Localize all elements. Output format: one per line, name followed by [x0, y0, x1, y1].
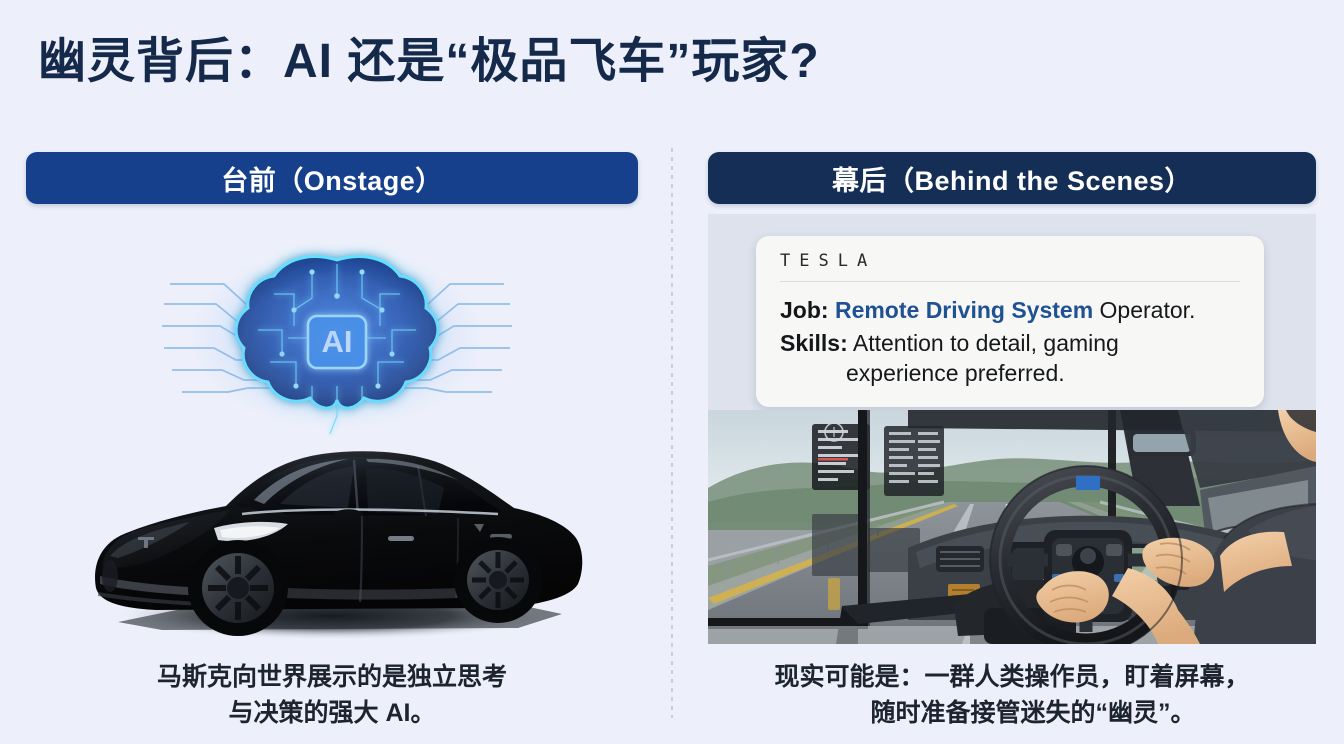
caption-behind-line-1: 现实可能是：一群人类操作员，盯着屏幕，: [700, 660, 1324, 696]
job-suffix-text: Operator.: [1093, 297, 1195, 323]
front-wheel: [188, 540, 288, 636]
behind-body-panel: TESLA Job: Remote Driving System Operato…: [708, 214, 1316, 644]
skills-text-continued: experience preferred.: [780, 358, 1240, 389]
job-label: Job:: [780, 297, 829, 323]
caption-onstage-line-2: 与决策的强大 AI。: [26, 696, 638, 732]
driving-simulator-rig-photo: [708, 410, 1316, 644]
job-card-divider: [780, 281, 1240, 282]
panel-header-behind-label: 幕后（Behind the Scenes）: [832, 159, 1192, 198]
job-accent-text: Remote Driving System: [835, 297, 1093, 323]
page-title: 幽灵背后：AI 还是“极品飞车”玩家?: [38, 34, 820, 89]
ai-brain-icon: AI: [162, 238, 512, 438]
column-behind: 幕后（Behind the Scenes） TESLA Job: Remote …: [708, 152, 1316, 644]
tesla-car-svg: [66, 416, 606, 651]
caption-onstage: 马斯克向世界展示的是独立思考 与决策的强大 AI。: [26, 660, 638, 731]
panel-header-behind: 幕后（Behind the Scenes）: [708, 152, 1316, 204]
caption-behind: 现实可能是：一群人类操作员，盯着屏幕， 随时准备接管迷失的“幽灵”。: [700, 660, 1324, 731]
rear-wheel: [454, 537, 542, 623]
tesla-wordmark: TESLA: [780, 251, 1240, 281]
column-onstage: 台前（Onstage）: [26, 152, 638, 666]
caption-onstage-line-1: 马斯克向世界展示的是独立思考: [26, 660, 638, 696]
caption-behind-line-2: 随时准备接管迷失的“幽灵”。: [700, 696, 1324, 732]
panel-header-onstage-label: 台前（Onstage）: [221, 159, 443, 198]
driving-simulator-svg: [708, 410, 1316, 644]
onstage-body: AI: [26, 204, 638, 666]
skills-text: Attention to detail, gaming: [848, 330, 1119, 356]
tesla-model-3-car: [66, 416, 606, 651]
job-title-line: Job: Remote Driving System Operator.: [780, 295, 1240, 326]
skills-label: Skills:: [780, 330, 848, 356]
job-skills-line: Skills: Attention to detail, gaming expe…: [780, 328, 1240, 389]
panel-header-onstage: 台前（Onstage）: [26, 152, 638, 204]
tesla-job-posting-card: TESLA Job: Remote Driving System Operato…: [756, 236, 1264, 407]
ai-brain-glow: [192, 248, 482, 428]
column-divider: [671, 148, 673, 718]
